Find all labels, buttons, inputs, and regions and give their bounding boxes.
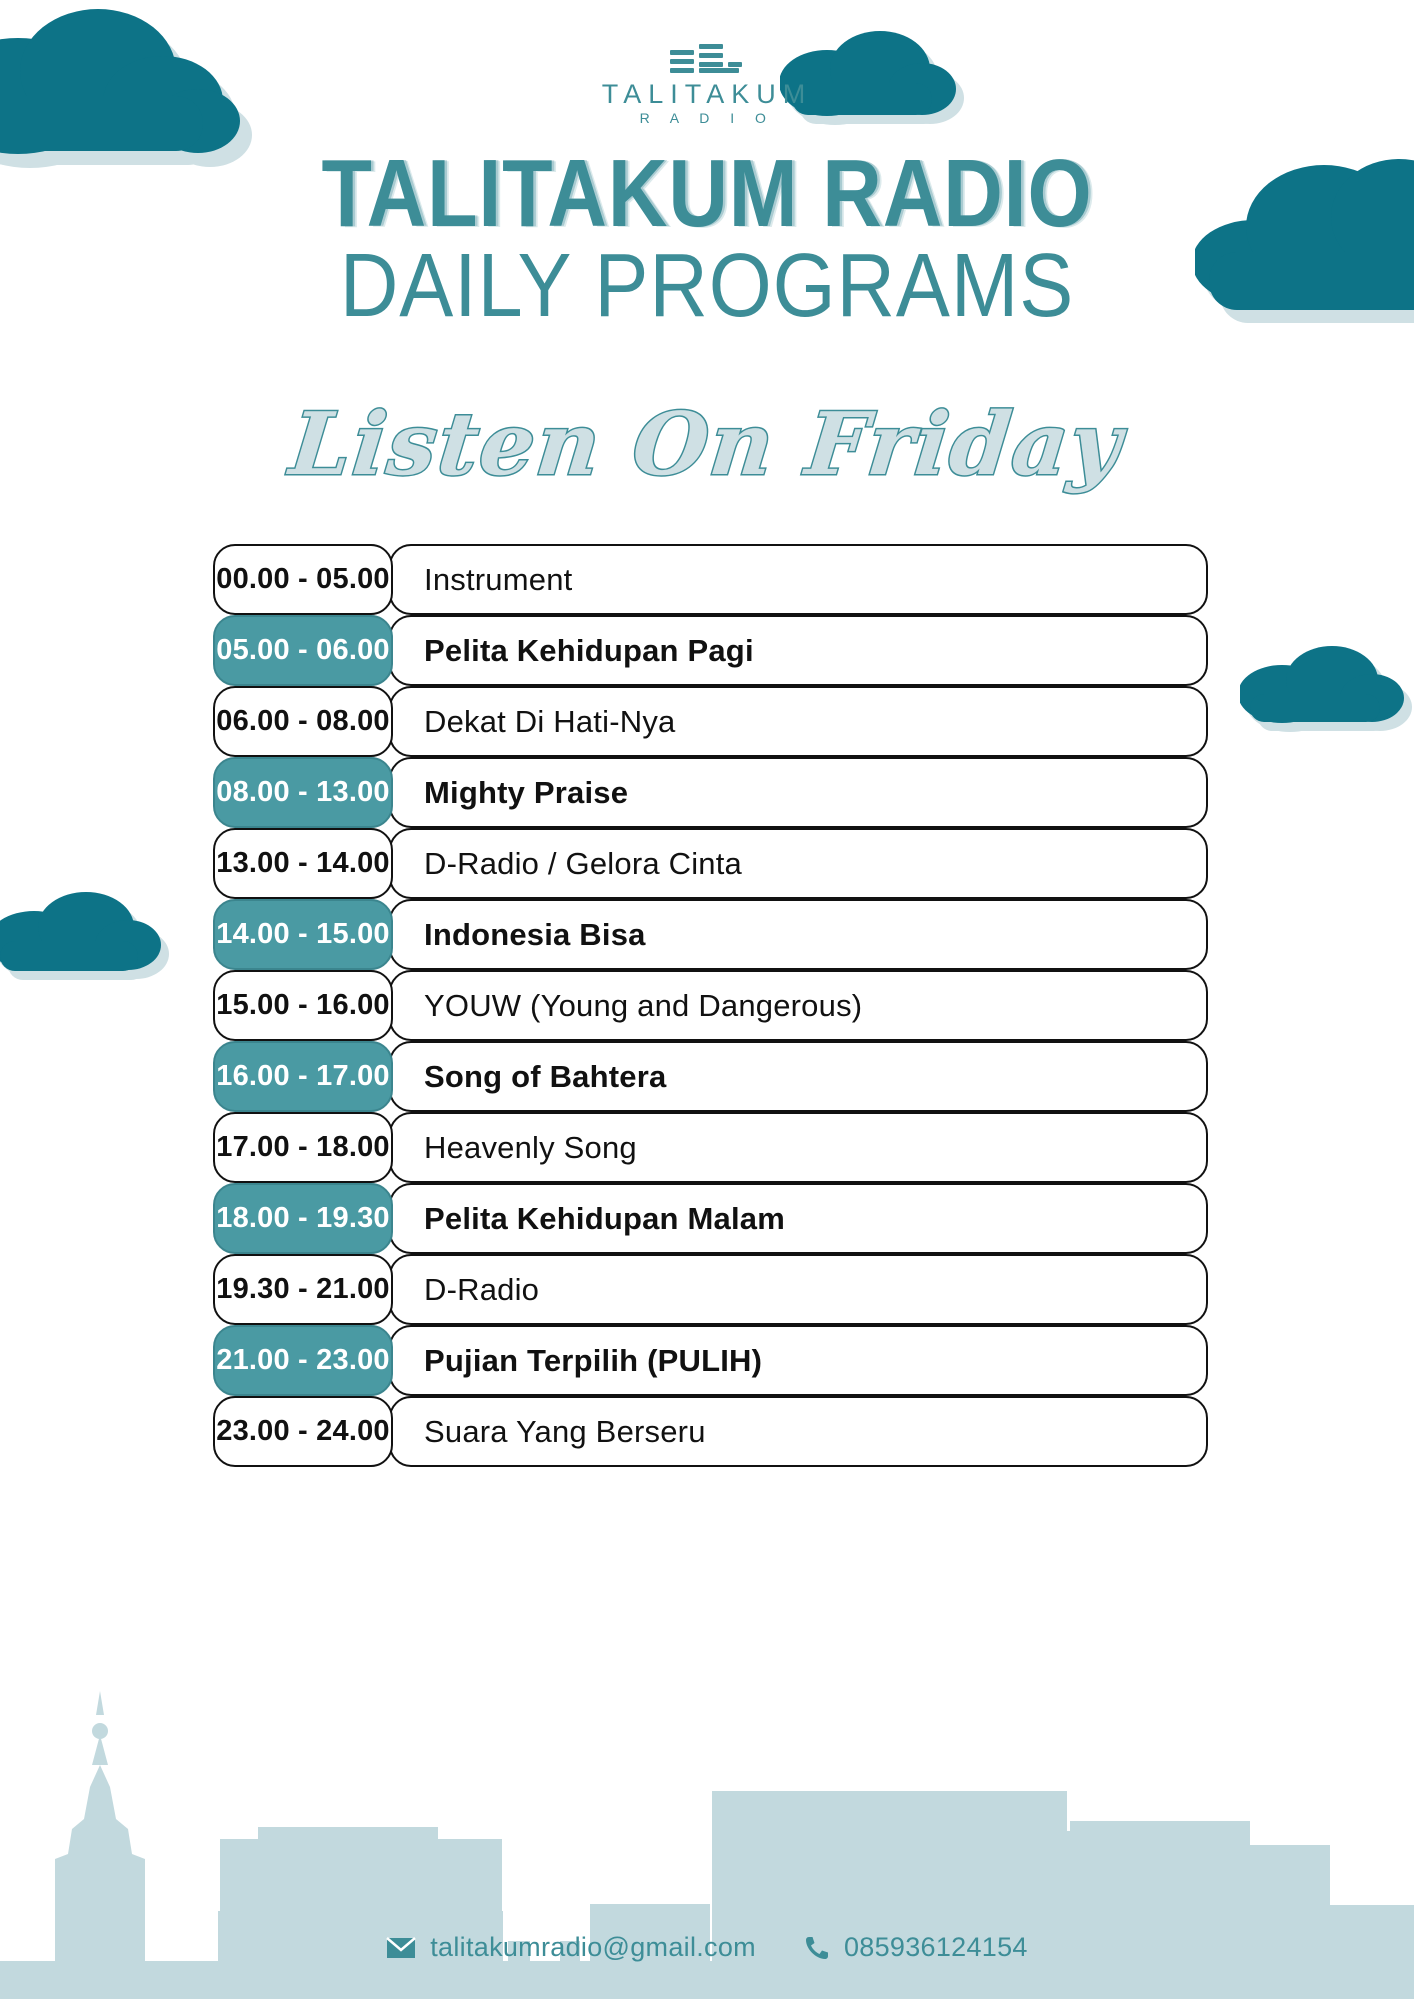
contact-phone-text: 085936124154 <box>844 1932 1028 1963</box>
contact-phone[interactable]: 085936124154 <box>804 1932 1028 1963</box>
schedule-row: 21.00 - 23.00Pujian Terpilih (PULIH) <box>213 1325 1208 1396</box>
schedule-row: 08.00 - 13.00Mighty Praise <box>213 757 1208 828</box>
script-subtitle-text: Listen On Friday <box>286 394 1128 495</box>
phone-icon <box>804 1935 830 1961</box>
schedule-time-slot: 16.00 - 17.00 <box>213 1041 393 1112</box>
schedule-program-name: Pujian Terpilih (PULIH) <box>389 1325 1208 1396</box>
contact-email[interactable]: talitakumradio@gmail.com <box>386 1932 756 1963</box>
schedule-row: 13.00 - 14.00D-Radio / Gelora Cinta <box>213 828 1208 899</box>
schedule-time-slot: 05.00 - 06.00 <box>213 615 393 686</box>
contact-email-text: talitakumradio@gmail.com <box>430 1932 756 1963</box>
program-schedule-list: 00.00 - 05.00Instrument05.00 - 06.00Peli… <box>213 544 1208 1467</box>
schedule-time-slot: 08.00 - 13.00 <box>213 757 393 828</box>
schedule-time-slot: 19.30 - 21.00 <box>213 1254 393 1325</box>
schedule-row: 17.00 - 18.00Heavenly Song <box>213 1112 1208 1183</box>
schedule-row: 05.00 - 06.00Pelita Kehidupan Pagi <box>213 615 1208 686</box>
title-line-1: TALITAKUM RADIO <box>99 150 1315 238</box>
title-line-2: DAILY PROGRAMS <box>71 242 1344 330</box>
schedule-row: 00.00 - 05.00Instrument <box>213 544 1208 615</box>
brand-logo: TALITAKUM R A D I O <box>0 42 1414 126</box>
schedule-program-name: Dekat Di Hati-Nya <box>389 686 1208 757</box>
schedule-program-name: Suara Yang Berseru <box>389 1396 1208 1467</box>
logo-subtext: R A D I O <box>0 110 1414 126</box>
schedule-row: 06.00 - 08.00Dekat Di Hati-Nya <box>213 686 1208 757</box>
cloud-mid-left-icon <box>0 890 180 995</box>
schedule-time-slot: 00.00 - 05.00 <box>213 544 393 615</box>
schedule-time-slot: 13.00 - 14.00 <box>213 828 393 899</box>
schedule-time-slot: 14.00 - 15.00 <box>213 899 393 970</box>
poster-canvas: TALITAKUM R A D I O TALITAKUM RADIO DAIL… <box>0 0 1414 1999</box>
schedule-time-slot: 17.00 - 18.00 <box>213 1112 393 1183</box>
schedule-row: 19.30 - 21.00D-Radio <box>213 1254 1208 1325</box>
schedule-time-slot: 23.00 - 24.00 <box>213 1396 393 1467</box>
schedule-program-name: Mighty Praise <box>389 757 1208 828</box>
schedule-program-name: Song of Bahtera <box>389 1041 1208 1112</box>
schedule-program-name: YOUW (Young and Dangerous) <box>389 970 1208 1041</box>
schedule-row: 16.00 - 17.00Song of Bahtera <box>213 1041 1208 1112</box>
schedule-time-slot: 21.00 - 23.00 <box>213 1325 393 1396</box>
schedule-program-name: Instrument <box>389 544 1208 615</box>
script-subtitle: Listen On Friday <box>0 394 1414 504</box>
schedule-row: 23.00 - 24.00Suara Yang Berseru <box>213 1396 1208 1467</box>
schedule-program-name: Indonesia Bisa <box>389 899 1208 970</box>
cloud-mid-right-icon <box>1240 645 1414 745</box>
schedule-program-name: D-Radio / Gelora Cinta <box>389 828 1208 899</box>
schedule-program-name: Pelita Kehidupan Malam <box>389 1183 1208 1254</box>
schedule-row: 14.00 - 15.00Indonesia Bisa <box>213 899 1208 970</box>
envelope-icon <box>386 1937 416 1959</box>
schedule-program-name: Pelita Kehidupan Pagi <box>389 615 1208 686</box>
logo-wordmark: TALITAKUM <box>0 80 1414 108</box>
schedule-row: 18.00 - 19.30Pelita Kehidupan Malam <box>213 1183 1208 1254</box>
schedule-time-slot: 15.00 - 16.00 <box>213 970 393 1041</box>
schedule-time-slot: 18.00 - 19.30 <box>213 1183 393 1254</box>
equalizer-bars-icon <box>670 42 744 76</box>
schedule-row: 15.00 - 16.00YOUW (Young and Dangerous) <box>213 970 1208 1041</box>
schedule-time-slot: 06.00 - 08.00 <box>213 686 393 757</box>
page-title: TALITAKUM RADIO DAILY PROGRAMS <box>0 150 1414 331</box>
schedule-program-name: Heavenly Song <box>389 1112 1208 1183</box>
schedule-program-name: D-Radio <box>389 1254 1208 1325</box>
contact-footer: talitakumradio@gmail.com 085936124154 <box>0 1932 1414 1963</box>
